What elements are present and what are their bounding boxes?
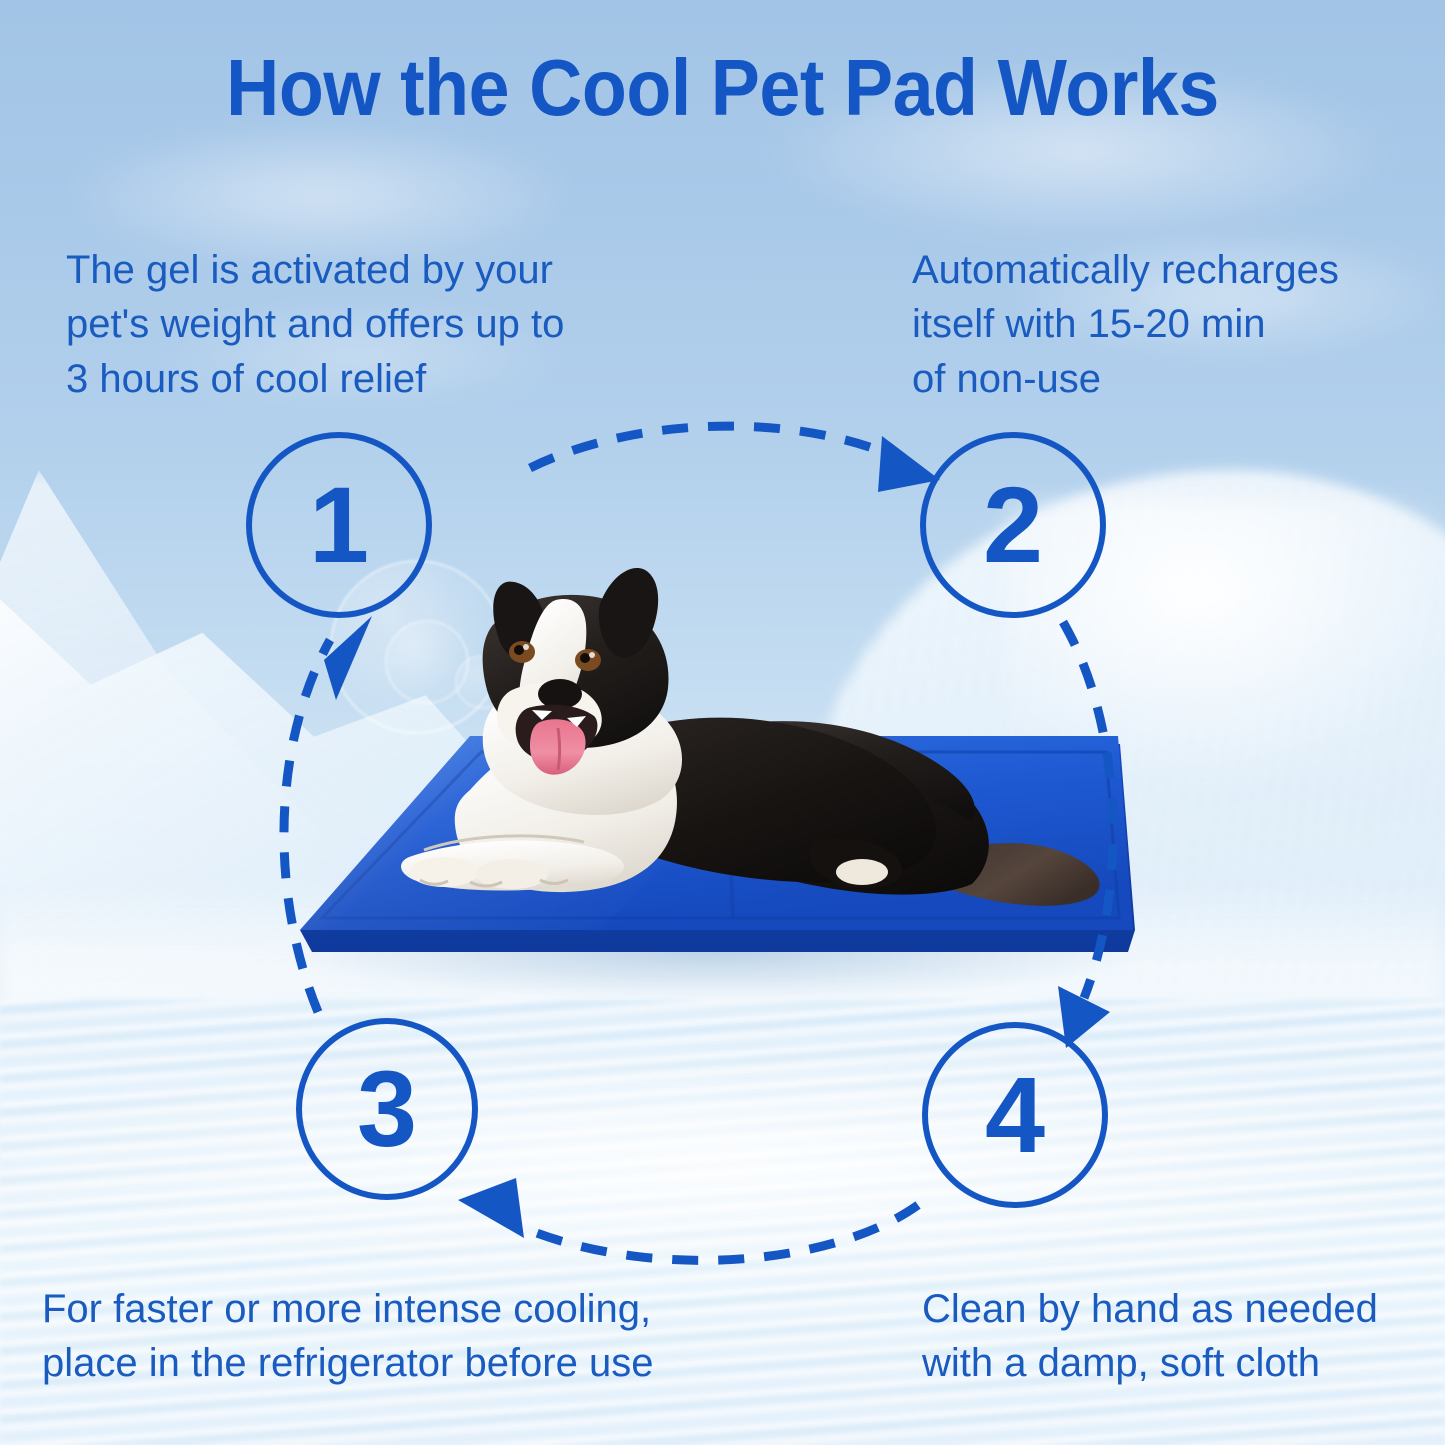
arrow-2-to-4: [1063, 622, 1113, 998]
step-circle-3[interactable]: 3: [296, 1018, 478, 1200]
step-circle-2[interactable]: 2: [920, 432, 1106, 618]
infographic-canvas: How the Cool Pet Pad Works 1 2 3 4 The g…: [0, 0, 1445, 1445]
step-number-1: 1: [309, 471, 369, 579]
step-circle-4[interactable]: 4: [922, 1022, 1108, 1208]
step-caption-1: The gel is activated by your pet's weigh…: [66, 243, 564, 406]
arrowhead-to-3: [458, 1178, 524, 1238]
flow-arrows: [0, 0, 1445, 1445]
step-caption-4: Clean by hand as needed with a damp, sof…: [922, 1282, 1378, 1391]
arrow-3-to-1: [284, 640, 330, 1012]
step-number-4: 4: [985, 1061, 1045, 1169]
arrowhead-to-1: [324, 616, 372, 700]
step-circle-1[interactable]: 1: [246, 432, 432, 618]
step-number-3: 3: [357, 1055, 417, 1163]
arrow-1-to-2: [530, 426, 898, 468]
step-number-2: 2: [983, 471, 1043, 579]
arrow-4-to-3: [510, 1205, 918, 1260]
step-caption-2: Automatically recharges itself with 15-2…: [912, 243, 1339, 406]
step-caption-3: For faster or more intense cooling, plac…: [42, 1282, 653, 1391]
page-title: How the Cool Pet Pad Works: [58, 48, 1387, 128]
